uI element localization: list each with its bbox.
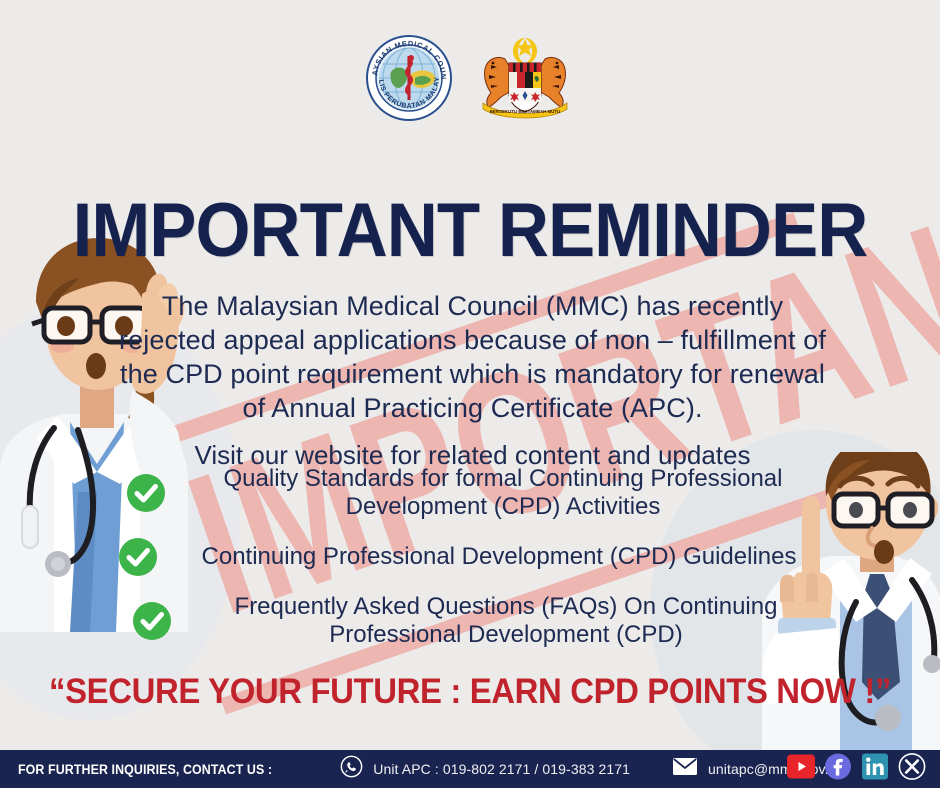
bullet-list: Quality Standards for formal Continuing … xyxy=(118,465,828,665)
list-item[interactable]: Frequently Asked Questions (FAQs) On Con… xyxy=(118,593,828,649)
header-logos: MALAYSIAN MEDICAL COUNCIL MAJLIS PERUBAT… xyxy=(0,30,940,130)
check-circle-icon xyxy=(118,537,158,577)
footer-phone-text: Unit APC : 019-802 2171 / 019-383 2171 xyxy=(373,761,630,777)
whatsapp-icon xyxy=(340,755,363,783)
youtube-icon[interactable] xyxy=(787,753,815,786)
slogan-text: “SECURE YOUR FUTURE : EARN CPD POINTS NO… xyxy=(28,672,912,712)
footer-label: FOR FURTHER INQUIRIES, CONTACT US : xyxy=(18,762,272,777)
footer-phone-item[interactable]: Unit APC : 019-802 2171 / 019-383 2171 xyxy=(340,755,630,783)
list-item[interactable]: Continuing Professional Development (CPD… xyxy=(118,537,828,577)
list-item-label: Continuing Professional Development (CPD… xyxy=(170,543,828,571)
list-item[interactable]: Quality Standards for formal Continuing … xyxy=(118,465,828,521)
svg-text:BERSEKUTU BERTAMBAH MUTU: BERSEKUTU BERTAMBAH MUTU xyxy=(490,109,560,114)
social-links xyxy=(787,753,926,786)
check-circle-icon xyxy=(132,601,172,641)
envelope-icon xyxy=(672,757,698,781)
x-twitter-icon[interactable] xyxy=(898,753,926,786)
poster-canvas: IMPORTANT xyxy=(0,0,940,788)
mmc-logo: MALAYSIAN MEDICAL COUNCIL MAJLIS PERUBAT… xyxy=(365,34,453,127)
list-item-label: Quality Standards for formal Continuing … xyxy=(178,465,828,521)
malaysia-coat-of-arms-logo: BERSEKUTU BERTAMBAH MUTU xyxy=(475,35,575,126)
list-item-label: Frequently Asked Questions (FAQs) On Con… xyxy=(184,593,828,649)
body-paragraph: The Malaysian Medical Council (MMC) has … xyxy=(115,289,830,425)
linkedin-icon[interactable] xyxy=(861,753,889,786)
footer-contact-bar: FOR FURTHER INQUIRIES, CONTACT US : Unit… xyxy=(0,750,940,788)
facebook-icon[interactable] xyxy=(824,753,852,786)
page-title: IMPORTANT REMINDER xyxy=(33,191,907,271)
check-circle-icon xyxy=(126,473,166,513)
